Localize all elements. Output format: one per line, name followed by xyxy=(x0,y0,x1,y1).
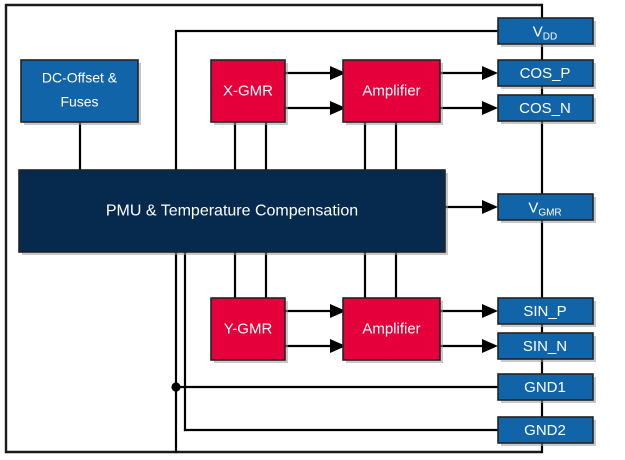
pad-label-cos-p: COS_P xyxy=(520,65,571,82)
pmu-to-vgmr-wire xyxy=(445,200,498,214)
block-diagram-canvas: DC-Offset & Fuses X-GMR Amplifier PMU & … xyxy=(0,0,625,460)
pad-label-vgmr-main: V xyxy=(528,199,538,216)
block-y-gmr[interactable]: Y-GMR xyxy=(211,298,288,363)
pad-gnd1[interactable]: GND1 xyxy=(498,374,596,403)
block-amplifier-top[interactable]: Amplifier xyxy=(343,60,443,125)
arrow-head-icon xyxy=(482,339,498,353)
block-x-gmr[interactable]: X-GMR xyxy=(211,60,288,125)
block-pmu-temperature-compensation[interactable]: PMU & Temperature Compensation xyxy=(19,170,448,255)
block-label-pmu: PMU & Temperature Compensation xyxy=(106,203,358,220)
pad-cos-n[interactable]: COS_N xyxy=(498,95,596,124)
pad-gnd2[interactable]: GND2 xyxy=(498,417,596,446)
pad-label-vdd-main: V xyxy=(533,23,543,40)
amplifier-top-to-cos-wires xyxy=(440,66,498,115)
block-label-dc-offset-line1: DC-Offset & xyxy=(42,70,118,86)
pad-label-sin-p: SIN_P xyxy=(523,303,566,320)
arrow-head-icon xyxy=(482,66,498,80)
pad-sin-p[interactable]: SIN_P xyxy=(498,298,596,327)
pad-sin-n[interactable]: SIN_N xyxy=(498,333,596,362)
pad-cos-p[interactable]: COS_P xyxy=(498,60,596,89)
arrow-head-icon xyxy=(482,101,498,115)
xgmr-to-amplifier-wires xyxy=(285,66,346,115)
pad-vdd[interactable]: VDD xyxy=(498,18,596,47)
pad-label-vdd-subscript: DD xyxy=(543,31,557,42)
arrow-head-icon xyxy=(482,304,498,318)
ygmr-to-amplifier-wires xyxy=(285,304,346,353)
pad-label-gnd2: GND2 xyxy=(524,422,566,439)
pad-vgmr[interactable]: VGMR xyxy=(498,194,596,223)
block-label-dc-offset-line2: Fuses xyxy=(60,94,98,110)
pad-label-cos-n: COS_N xyxy=(519,100,571,117)
gnd1-junction-dot xyxy=(171,382,180,391)
pad-label-vgmr-subscript: GMR xyxy=(538,207,561,218)
block-dc-offset-fuses[interactable]: DC-Offset & Fuses xyxy=(21,60,141,125)
block-label-x-gmr: X-GMR xyxy=(223,82,273,99)
pad-label-sin-n: SIN_N xyxy=(523,338,567,355)
amplifier-bottom-to-sin-wires xyxy=(440,304,498,353)
block-label-amplifier-top: Amplifier xyxy=(362,82,420,99)
block-label-y-gmr: Y-GMR xyxy=(224,320,273,337)
arrow-head-icon xyxy=(482,200,498,214)
gnd1-routing-wire xyxy=(171,382,498,391)
block-diagram-svg: DC-Offset & Fuses X-GMR Amplifier PMU & … xyxy=(0,0,625,460)
block-amplifier-bottom[interactable]: Amplifier xyxy=(343,298,443,363)
pad-label-gnd1: GND1 xyxy=(524,379,566,396)
block-label-amplifier-bottom: Amplifier xyxy=(362,320,420,337)
